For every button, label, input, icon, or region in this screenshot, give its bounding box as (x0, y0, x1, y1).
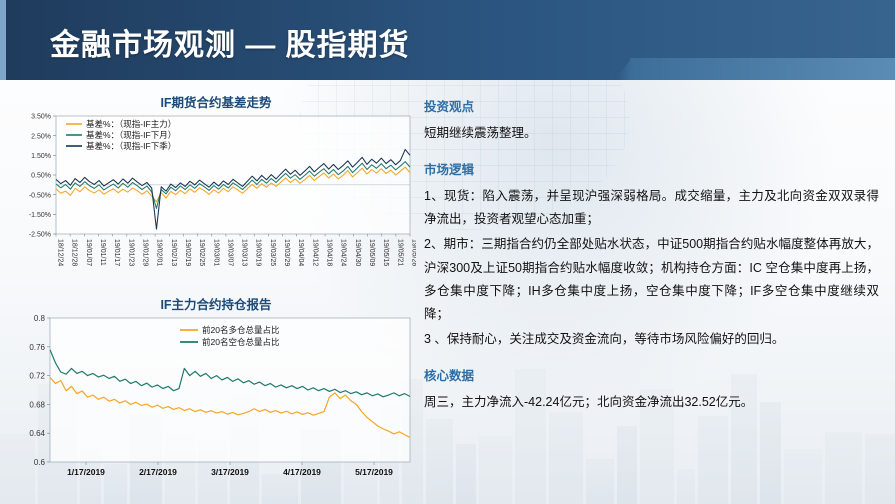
svg-text:19/04/24: 19/04/24 (340, 239, 347, 266)
building (784, 449, 822, 504)
svg-text:19/01/11: 19/01/11 (99, 239, 106, 266)
svg-text:19/01/29: 19/01/29 (141, 239, 148, 266)
svg-text:1.50%: 1.50% (31, 153, 51, 160)
header-notch (630, 58, 895, 80)
svg-text:19/03/19: 19/03/19 (255, 239, 262, 266)
svg-text:-1.50%: -1.50% (29, 212, 51, 219)
svg-text:19/01/23: 19/01/23 (127, 239, 134, 266)
svg-text:19/02/25: 19/02/25 (198, 239, 205, 266)
svg-text:前20名多仓总量占比: 前20名多仓总量占比 (202, 325, 279, 335)
commentary-column: 投资观点 短期继续震荡整理。 市场逻辑 1、现货：陷入震荡，并呈现沪强深弱格局。… (424, 96, 879, 428)
svg-text:19/05/15: 19/05/15 (382, 239, 389, 266)
section-heading: 投资观点 (424, 96, 879, 115)
section-body: 1、现货：陷入震荡，并呈现沪强深弱格局。成交缩量，主力及北向资金双双录得净流出，… (424, 185, 879, 351)
building (426, 419, 453, 504)
svg-text:0.72: 0.72 (29, 372, 45, 381)
building (825, 432, 862, 504)
svg-text:18/12/28: 18/12/28 (71, 239, 78, 266)
svg-text:19/03/25: 19/03/25 (269, 239, 276, 266)
building (677, 469, 695, 504)
svg-text:19/03/07: 19/03/07 (226, 239, 233, 266)
svg-text:19/03/13: 19/03/13 (241, 239, 248, 266)
section-heading: 市场逻辑 (424, 159, 879, 178)
svg-text:19/05/09: 19/05/09 (368, 239, 375, 266)
page-title: 金融市场观测 — 股指期货 (50, 20, 410, 64)
svg-text:19/02/13: 19/02/13 (170, 239, 177, 266)
paragraph: 2、期市：三期指合约仍全部处贴水状态，中证500期指合约贴水幅度整体再放大，沪深… (424, 233, 879, 326)
section-heading: 核心数据 (424, 365, 879, 384)
section-core-data: 核心数据 周三，主力净流入-42.24亿元；北向资金净流出32.52亿元。 (424, 365, 879, 414)
position-chart-svg: 0.80.760.720.680.640.61/17/20192/17/2019… (16, 310, 416, 488)
svg-text:2.50%: 2.50% (31, 133, 51, 140)
svg-text:前20名空仓总量占比: 前20名空仓总量占比 (202, 337, 279, 347)
section-market-logic: 市场逻辑 1、现货：陷入震荡，并呈现沪强深弱格局。成交缩量，主力及北向资金双双录… (424, 159, 879, 351)
svg-text:19/05/28: 19/05/28 (411, 239, 417, 266)
paragraph: 1、现货：陷入震荡，并呈现沪强深弱格局。成交缩量，主力及北向资金双双录得净流出，… (424, 185, 879, 231)
building (865, 434, 895, 504)
section-investment-view: 投资观点 短期继续震荡整理。 (424, 96, 879, 145)
paragraph: 3 、保持耐心，关注成交及资金流向，等待市场风险偏好的回归。 (424, 328, 879, 351)
svg-text:19/02/01: 19/02/01 (156, 239, 163, 266)
position-chart-container: IF主力合约持仓报告 0.80.760.720.680.640.61/17/20… (16, 294, 416, 489)
svg-text:19/04/18: 19/04/18 (326, 239, 333, 266)
svg-text:2/17/2019: 2/17/2019 (139, 467, 177, 477)
svg-text:0.8: 0.8 (34, 314, 46, 323)
svg-text:19/01/07: 19/01/07 (85, 239, 92, 266)
svg-text:3/17/2019: 3/17/2019 (211, 467, 249, 477)
building (617, 426, 637, 504)
svg-text:基差%：（现指-IF主力）: 基差%：（现指-IF主力） (86, 119, 176, 129)
svg-text:0.64: 0.64 (29, 429, 45, 438)
section-body: 周三，主力净流入-42.24亿元；北向资金净流出32.52亿元。 (424, 391, 879, 414)
svg-text:-2.50%: -2.50% (29, 232, 51, 239)
basis-chart-container: IF期货合约基差走势 3.50%2.50%1.50%0.50%-0.50%-1.… (16, 92, 416, 292)
svg-text:基差%：（现指-IF下月）: 基差%：（现指-IF下月） (86, 130, 176, 140)
svg-text:3.50%: 3.50% (31, 114, 51, 121)
building (698, 416, 728, 504)
section-body: 短期继续震荡整理。 (424, 122, 879, 145)
svg-text:4/17/2019: 4/17/2019 (283, 467, 321, 477)
svg-text:19/02/19: 19/02/19 (184, 239, 191, 266)
basis-chart-svg: 3.50%2.50%1.50%0.50%-0.50%-1.50%-2.50%18… (16, 108, 416, 292)
slide-header: 金融市场观测 — 股指期货 (0, 0, 895, 80)
svg-text:19/04/30: 19/04/30 (354, 239, 361, 266)
building (456, 444, 476, 504)
building (479, 436, 512, 504)
svg-text:0.68: 0.68 (29, 400, 45, 409)
svg-text:19/03/01: 19/03/01 (212, 239, 219, 266)
svg-text:19/04/04: 19/04/04 (297, 239, 304, 266)
paragraph: 短期继续震荡整理。 (424, 122, 879, 145)
svg-text:19/03/29: 19/03/29 (283, 239, 290, 266)
svg-text:0.6: 0.6 (34, 458, 46, 467)
building (586, 459, 614, 504)
svg-text:1/17/2019: 1/17/2019 (67, 467, 105, 477)
svg-text:0.76: 0.76 (29, 343, 45, 352)
svg-text:-0.50%: -0.50% (29, 192, 51, 199)
svg-text:18/12/24: 18/12/24 (57, 239, 64, 266)
svg-text:基差%：（现指-IF下季）: 基差%：（现指-IF下季） (86, 141, 176, 151)
charts-column: IF期货合约基差走势 3.50%2.50%1.50%0.50%-0.50%-1.… (16, 92, 416, 492)
svg-text:19/04/12: 19/04/12 (311, 239, 318, 266)
paragraph: 周三，主力净流入-42.24亿元；北向资金净流出32.52亿元。 (424, 391, 879, 414)
svg-text:5/17/2019: 5/17/2019 (355, 467, 393, 477)
header-accent-bar (0, 0, 6, 80)
svg-text:19/05/21: 19/05/21 (396, 239, 403, 266)
svg-text:19/01/17: 19/01/17 (113, 239, 120, 266)
svg-text:0.50%: 0.50% (31, 173, 51, 180)
